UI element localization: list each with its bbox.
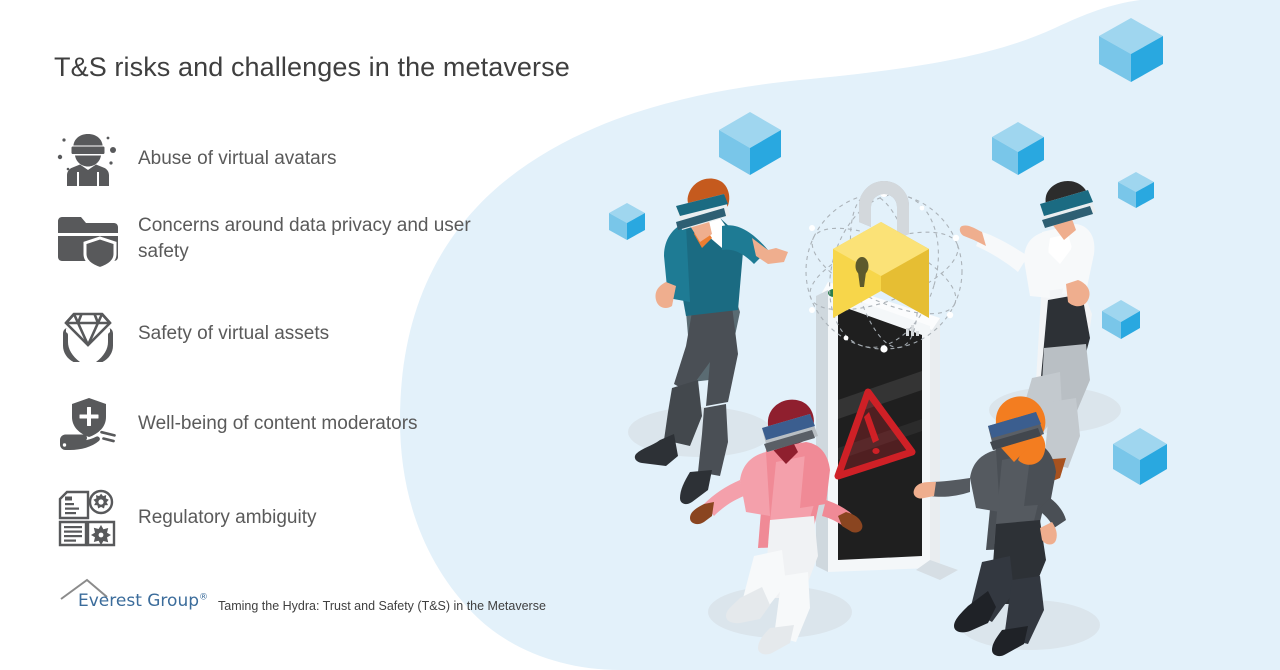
logo-wordmark: Everest Group bbox=[78, 591, 199, 611]
risk-item-wellbeing-of-content-moderators[interactable]: Well-being of content moderators bbox=[54, 393, 474, 455]
slide-canvas: T&S risks and challenges in the metavers… bbox=[0, 0, 1280, 670]
risk-item-regulatory-ambiguity[interactable]: Regulatory ambiguity bbox=[54, 487, 474, 549]
risk-item-label: Abuse of virtual avatars bbox=[138, 146, 337, 172]
logo-text: Everest Group® bbox=[78, 591, 208, 611]
diamond-in-hands-icon bbox=[54, 303, 122, 365]
risk-item-abuse-of-virtual-avatars[interactable]: Abuse of virtual avatars bbox=[54, 128, 474, 190]
risk-item-data-privacy[interactable]: Concerns around data privacy and user sa… bbox=[54, 208, 474, 270]
risk-item-label: Well-being of content moderators bbox=[138, 411, 418, 437]
risk-item-label: Concerns around data privacy and user sa… bbox=[138, 213, 474, 264]
avatar-vr-headset-icon bbox=[54, 128, 122, 190]
document-gear-icon bbox=[54, 487, 122, 549]
registered-mark: ® bbox=[199, 592, 208, 602]
footer: Everest Group® Taming the Hydra: Trust a… bbox=[60, 578, 546, 616]
risk-item-safety-of-virtual-assets[interactable]: Safety of virtual assets bbox=[54, 303, 474, 365]
page-title: T&S risks and challenges in the metavers… bbox=[54, 52, 570, 83]
everest-group-logo[interactable]: Everest Group® bbox=[60, 578, 172, 616]
footer-subtitle: Taming the Hydra: Trust and Safety (T&S)… bbox=[218, 599, 546, 616]
risk-item-label: Regulatory ambiguity bbox=[138, 505, 316, 531]
shield-on-hand-icon bbox=[54, 393, 122, 455]
risk-item-label: Safety of virtual assets bbox=[138, 321, 329, 347]
folder-shield-icon bbox=[54, 208, 122, 270]
